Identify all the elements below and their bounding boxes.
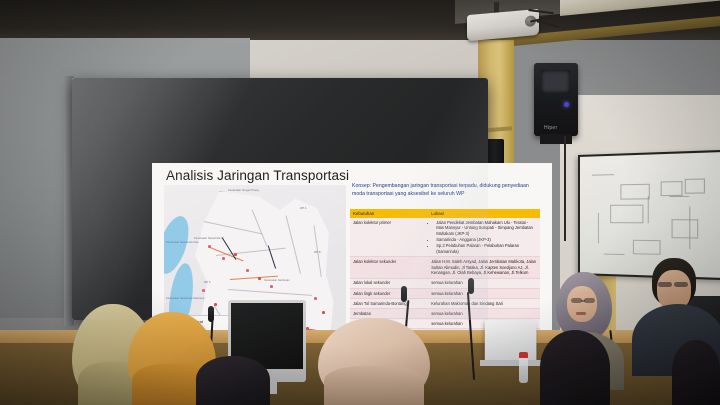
map-label-7: WP A: [300, 207, 306, 210]
cell-kebutuhan: Jembatan: [350, 308, 428, 318]
table-header-kebutuhan: Kebutuhan: [350, 209, 428, 218]
whiteboard: [578, 150, 720, 281]
map-label-4: Kecamatan Sambutan: [264, 279, 290, 282]
lokasi-list-item: Jalan Pendekat Jembatan Mahakam Ulu - Te…: [436, 220, 537, 237]
speaker-brand-label: Hiper: [544, 125, 557, 131]
speaker-cable: [564, 136, 566, 241]
cell-lokasi: semua kelurahan: [428, 288, 540, 298]
table-header-row: Kebutuhan Lokasi: [350, 209, 540, 218]
projector-cables: [528, 6, 568, 31]
meeting-room-photo: Hiper Analisis Jaringan Transportasi: [0, 0, 720, 405]
map-label-0: Kecamatan Sungai Pinang: [228, 189, 259, 192]
speaker-led-icon: [564, 102, 569, 107]
open-laptop: [485, 320, 537, 363]
microphone-head-2: [468, 278, 474, 294]
lokasi-list-item: Samarinda - Anggana (JKP-3): [436, 237, 537, 243]
microphone-head-3: [208, 306, 214, 322]
cell-lokasi: semua kelurahan: [428, 308, 540, 318]
table-row: Jalan kolektor sekunderJalan H.M. Saleh …: [350, 257, 540, 278]
laptop-base: [480, 360, 542, 366]
water-bottle: [519, 357, 528, 383]
table-row: Jalan kolektor primerJalan Pendekat Jemb…: [350, 218, 540, 257]
map-label-1: Kecamatan Samarinda Kota: [166, 241, 198, 244]
speaker-bracket: [540, 134, 572, 144]
cell-lokasi: Kelurahan Makroman dan Sindang Sari: [428, 298, 540, 308]
microphone-head-1: [401, 286, 407, 302]
table-header-lokasi: Lokasi: [428, 209, 540, 218]
map-label-9: WP C: [204, 281, 211, 284]
cell-kebutuhan: Jalan Tol Samarinda-Bontang: [350, 298, 428, 308]
cell-kebutuhan: Jalan lingk sekunder: [350, 288, 428, 298]
cell-lokasi: Jalan H.M. Saleh Arsyad, Jalan Jembatan …: [428, 257, 540, 278]
table-row: Jalan lokal sekundersemua kelurahan: [350, 278, 540, 288]
wall-mounted-display: Analisis Jaringan Transportasi: [72, 78, 488, 320]
page-title: Analisis Jaringan Transportasi: [166, 168, 349, 183]
map-label-3: Kecamatan Samarinda Seberang: [166, 297, 204, 300]
lokasi-list-item: Sp.3 Pelabuhan Palaran - Pelabuhan Palar…: [436, 243, 537, 254]
cell-lokasi: semua kelurahan: [428, 278, 540, 288]
cell-kebutuhan: Jalan kolektor sekunder: [350, 257, 428, 278]
cell-lokasi: Jalan Pendekat Jembatan Mahakam Ulu - Te…: [428, 218, 540, 257]
cell-kebutuhan: Jalan kolektor primer: [350, 218, 428, 257]
bottle-cap: [519, 352, 528, 358]
map-label-8: WP B: [314, 251, 321, 254]
table-row: Jembatansemua kelurahan: [350, 308, 540, 318]
table-row: Jalan lingk sekundersemua kelurahan: [350, 288, 540, 298]
map-label-2: Kecamatan Samarinda Ilir: [194, 237, 224, 240]
cell-kebutuhan: Jalan lokal sekunder: [350, 278, 428, 288]
wall-speaker: Hiper: [534, 63, 578, 136]
table-row: Jalan Tol Samarinda-BontangKelurahan Mak…: [350, 298, 540, 308]
konsep-text: Konsep: Pengembangan jaringan transporta…: [352, 183, 538, 198]
speaker-grill-icon: [541, 70, 570, 93]
